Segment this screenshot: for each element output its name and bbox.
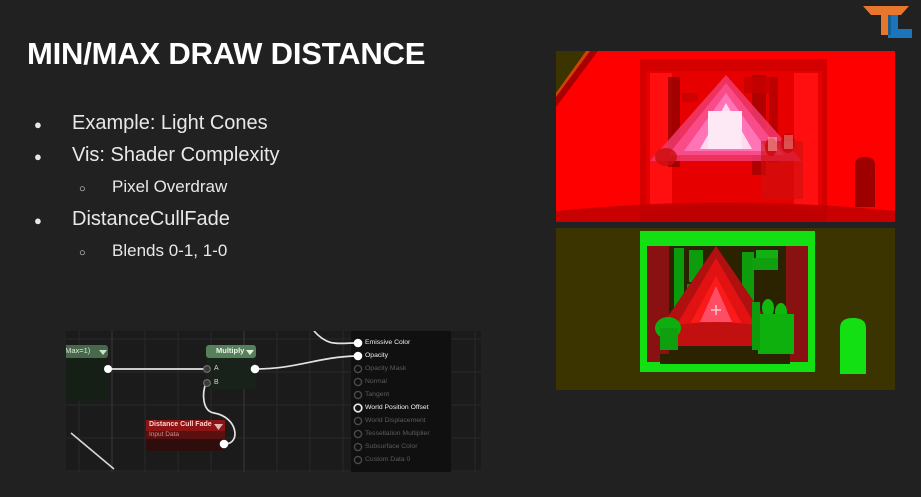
prop-sign [752, 258, 778, 270]
page-title: MIN/MAX DRAW DISTANCE [27, 36, 527, 72]
foliage [655, 148, 677, 166]
bullet-marker-icon: ● [34, 110, 72, 140]
green-viewport-svg [556, 228, 895, 390]
multiply-output-pin[interactable] [251, 365, 260, 374]
logo-svg [857, 2, 915, 40]
list-item: ○ Blends 0-1, 1-0 [34, 236, 504, 268]
logo-letter-l [888, 15, 912, 38]
distance-cull-fade-header [146, 420, 225, 431]
bullet-text: Blends 0-1, 1-0 [112, 236, 227, 265]
list-item: ○ Pixel Overdraw [34, 172, 504, 204]
shader-complexity-red-viewport [556, 51, 895, 222]
tl-monogram-logo [857, 2, 915, 40]
pin-opacity[interactable] [354, 352, 363, 361]
bullet-marker-icon: ● [34, 206, 72, 236]
doorway [855, 157, 875, 207]
sign-panel [744, 77, 770, 93]
list-item: ● Vis: Shader Complexity [34, 140, 504, 172]
crowd-mass [758, 314, 794, 354]
node-graph-svg[interactable] [66, 331, 481, 472]
sign-panel [682, 93, 698, 102]
red-viewport-svg [556, 51, 895, 222]
material-output-body [351, 331, 451, 472]
distance-cull-fade-output-pin[interactable] [220, 440, 229, 449]
cone-hot-spot [708, 111, 742, 149]
bullet-list: ● Example: Light Cones ● Vis: Shader Com… [34, 108, 504, 268]
slide-canvas: MIN/MAX DRAW DISTANCE ● Example: Light C… [0, 0, 921, 497]
bullet-marker-icon: ○ [79, 239, 112, 268]
doorway [840, 318, 866, 374]
crowd-highlight [768, 137, 777, 151]
crowd-figure [752, 302, 760, 350]
logo-letter-l-shadow [888, 15, 891, 35]
distance-cull-fade-subheader [146, 431, 225, 439]
list-item: ● Example: Light Cones [34, 108, 504, 140]
bullet-marker-icon: ○ [79, 175, 112, 204]
bullet-marker-icon: ● [34, 142, 72, 172]
crowd-highlight [784, 135, 793, 149]
crowd-mass [761, 141, 803, 199]
bullet-text: DistanceCullFade [72, 204, 230, 234]
clamp-output-pin[interactable] [104, 365, 112, 373]
list-item: ● DistanceCullFade [34, 204, 504, 236]
pin-emissive-color[interactable] [354, 339, 363, 348]
multiply-input-b-pin[interactable] [204, 380, 211, 387]
multiply-input-a-pin[interactable] [204, 366, 211, 373]
bullet-text: Vis: Shader Complexity [72, 140, 280, 170]
bullet-text: Example: Light Cones [72, 108, 268, 138]
bullet-text: Pixel Overdraw [112, 172, 227, 201]
shader-complexity-green-viewport [556, 228, 895, 390]
floor-shadow [660, 354, 790, 364]
foliage-base [660, 328, 678, 350]
material-node-graph[interactable]: ) (Max=1) Multiply A B Distance Cull Fad… [66, 331, 481, 472]
